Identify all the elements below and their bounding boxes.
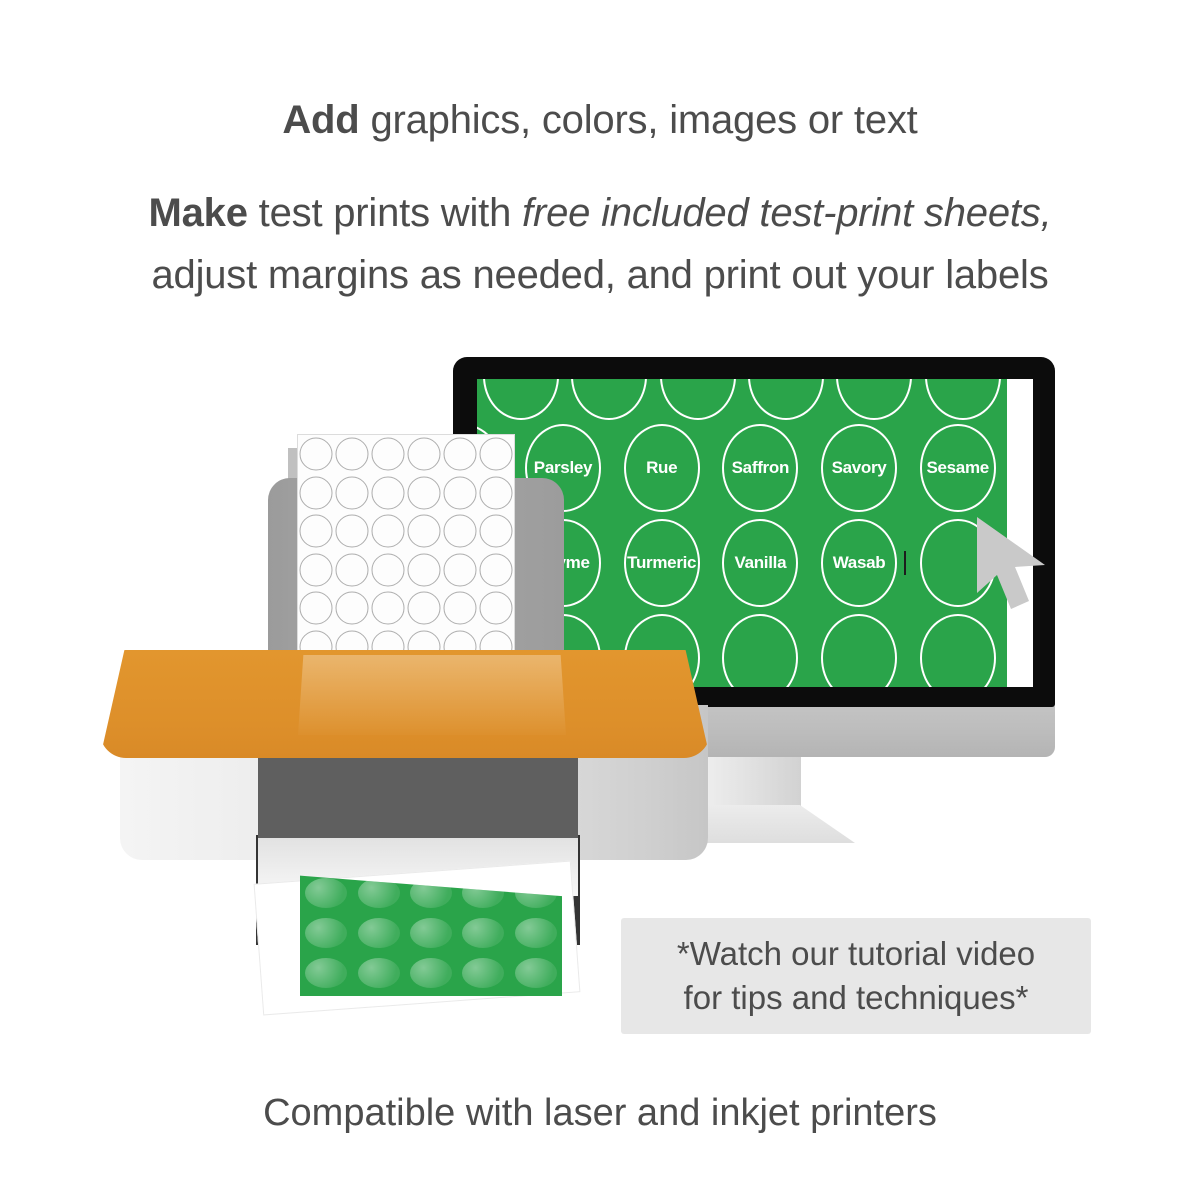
- label-cell[interactable]: Sesame: [908, 421, 1007, 515]
- blank-label-slot: [442, 551, 478, 590]
- headline-add-rest: graphics, colors, images or text: [360, 98, 918, 142]
- label-row: Parsley Rue Saffron Savory: [477, 421, 1007, 515]
- label-text: Vanilla: [711, 553, 810, 573]
- blank-label-slot: [370, 589, 406, 628]
- blank-label-circle: [444, 592, 477, 625]
- callout-line-2: for tips and techniques*: [677, 976, 1035, 1020]
- blank-label-circle: [336, 515, 369, 548]
- label-oval: [483, 379, 559, 420]
- printed-label-slot: [352, 912, 404, 954]
- blank-label-slot: [370, 551, 406, 590]
- blank-label-slot: [478, 474, 514, 513]
- tutorial-video-callout-text: *Watch our tutorial video for tips and t…: [677, 932, 1035, 1020]
- label-text: Turmeric: [612, 553, 711, 573]
- blank-label-slot: [442, 474, 478, 513]
- blank-label-slot: [478, 589, 514, 628]
- blank-label-circle: [336, 592, 369, 625]
- printer-lid-highlight: [298, 655, 566, 735]
- printed-label-oval: [358, 958, 400, 988]
- headline-make-mid: test prints with: [248, 191, 522, 235]
- blank-sheet-row: [298, 551, 514, 590]
- blank-label-slot: [298, 435, 334, 474]
- label-cell[interactable]: [565, 379, 653, 423]
- printed-row: [300, 952, 562, 994]
- label-row: agon Thyme Turmeric Vanilla: [477, 516, 1007, 610]
- blank-label-circle: [444, 476, 477, 509]
- blank-label-slot: [442, 589, 478, 628]
- blank-label-circle: [480, 515, 513, 548]
- blank-label-circle: [300, 476, 333, 509]
- blank-label-circle: [372, 476, 405, 509]
- blank-label-circle: [372, 438, 405, 471]
- blank-label-slot: [478, 551, 514, 590]
- printed-label-oval: [410, 918, 452, 948]
- blank-label-slot: [406, 435, 442, 474]
- printed-label-oval: [305, 958, 347, 988]
- blank-label-slot: [478, 435, 514, 474]
- blank-label-circle: [480, 553, 513, 586]
- label-text: Savory: [810, 458, 909, 478]
- printed-label-oval: [462, 918, 504, 948]
- label-cell[interactable]: Turmeric: [612, 516, 711, 610]
- label-text: Thyme: [514, 553, 613, 573]
- blank-label-circle: [408, 515, 441, 548]
- blank-label-slot: [442, 435, 478, 474]
- label-cell[interactable]: [742, 379, 830, 423]
- blank-label-circle: [408, 592, 441, 625]
- blank-label-circle: [480, 592, 513, 625]
- blank-label-circle: [336, 476, 369, 509]
- printed-label-slot: [510, 952, 562, 994]
- label-text: Parsley: [514, 458, 613, 478]
- blank-label-slot: [298, 512, 334, 551]
- label-cell[interactable]: Parsley: [514, 421, 613, 515]
- blank-label-circle: [372, 553, 405, 586]
- blank-sheet-row: [298, 435, 514, 474]
- blank-label-slot: [406, 512, 442, 551]
- blank-sheet-row: [298, 589, 514, 628]
- blank-sheet-row: [298, 512, 514, 551]
- label-cell[interactable]: Savory: [810, 421, 909, 515]
- printed-label-slot: [457, 952, 509, 994]
- headline-add-bold: Add: [282, 98, 359, 142]
- label-cell[interactable]: [477, 379, 565, 423]
- blank-label-slot: [406, 589, 442, 628]
- label-design-canvas[interactable]: Parsley Rue Saffron Savory: [477, 379, 1007, 687]
- printed-row: [300, 912, 562, 954]
- blank-label-slot: [298, 589, 334, 628]
- blank-label-slot: [442, 512, 478, 551]
- blank-label-slot: [370, 474, 406, 513]
- label-cell[interactable]: Vanilla: [711, 516, 810, 610]
- footer-caption: Compatible with laser and inkjet printer…: [0, 1092, 1200, 1135]
- blank-label-slot: [298, 551, 334, 590]
- blank-label-circle: [372, 515, 405, 548]
- headline-make-italic: free included test-print sheets,: [522, 191, 1051, 235]
- printed-label-oval: [515, 958, 557, 988]
- printed-label-slot: [405, 952, 457, 994]
- blank-label-sheet: [297, 434, 515, 678]
- blank-label-circle: [372, 592, 405, 625]
- label-cell[interactable]: [830, 379, 918, 423]
- blank-label-slot: [334, 474, 370, 513]
- blank-label-circle: [480, 438, 513, 471]
- label-oval: [660, 379, 736, 420]
- blank-label-circle: [300, 438, 333, 471]
- text-cursor-caret: [904, 551, 906, 575]
- blank-sheet-row: [298, 474, 514, 513]
- blank-label-circle: [408, 438, 441, 471]
- label-oval: [821, 614, 897, 687]
- label-cell[interactable]: [711, 611, 810, 687]
- blank-label-circle: [300, 515, 333, 548]
- headline-make-line2: adjust margins as needed, and print out …: [60, 244, 1140, 306]
- label-cell[interactable]: [919, 379, 1007, 423]
- label-cell[interactable]: [654, 379, 742, 423]
- printed-label-slot: [300, 952, 352, 994]
- blank-label-circle: [300, 553, 333, 586]
- blank-label-circle: [444, 515, 477, 548]
- label-text: Saffron: [711, 458, 810, 478]
- label-cell[interactable]: Rue: [612, 421, 711, 515]
- label-cell[interactable]: Thyme: [514, 516, 613, 610]
- headline-add: Add graphics, colors, images or text: [0, 94, 1200, 146]
- tutorial-video-callout[interactable]: *Watch our tutorial video for tips and t…: [621, 918, 1091, 1034]
- blank-label-slot: [298, 474, 334, 513]
- label-cell[interactable]: Saffron: [711, 421, 810, 515]
- blank-label-slot: [370, 435, 406, 474]
- blank-label-circle: [444, 438, 477, 471]
- mouse-pointer-icon[interactable]: [975, 513, 1059, 617]
- printed-label-oval: [462, 958, 504, 988]
- blank-label-circle: [408, 553, 441, 586]
- blank-label-circle: [300, 592, 333, 625]
- callout-line-1: *Watch our tutorial video: [677, 932, 1035, 976]
- label-text: Sesame: [908, 458, 1007, 478]
- label-cell[interactable]: [810, 611, 909, 687]
- blank-label-circle: [336, 553, 369, 586]
- printed-label-slot: [457, 912, 509, 954]
- label-oval: [748, 379, 824, 420]
- label-oval: [722, 614, 798, 687]
- monitor-screen[interactable]: Parsley Rue Saffron Savory: [477, 379, 1033, 687]
- printed-label-slot: [300, 912, 352, 954]
- blank-label-slot: [406, 551, 442, 590]
- blank-label-slot: [478, 512, 514, 551]
- label-oval: [836, 379, 912, 420]
- blank-label-slot: [334, 589, 370, 628]
- blank-label-slot: [406, 474, 442, 513]
- blank-label-circle: [408, 476, 441, 509]
- printed-label-slot: [405, 912, 457, 954]
- infographic-canvas: Add graphics, colors, images or text Mak…: [0, 0, 1200, 1200]
- printed-label-oval: [358, 918, 400, 948]
- label-oval: [571, 379, 647, 420]
- blank-label-slot: [370, 512, 406, 551]
- label-text-editing: Wasab: [810, 553, 909, 573]
- printed-label-slot: [352, 952, 404, 994]
- printed-label-oval: [305, 878, 347, 908]
- blank-label-circle: [336, 438, 369, 471]
- label-text: Rue: [612, 458, 711, 478]
- label-cell[interactable]: [908, 611, 1007, 687]
- blank-label-slot: [334, 435, 370, 474]
- printed-label-slot: [510, 912, 562, 954]
- printed-label-oval: [515, 918, 557, 948]
- blank-label-slot: [334, 512, 370, 551]
- blank-label-slot: [334, 551, 370, 590]
- label-cell-active[interactable]: Wasab: [810, 516, 909, 610]
- label-oval: [920, 614, 996, 687]
- label-oval: [925, 379, 1001, 420]
- headline-make-bold: Make: [149, 191, 248, 235]
- blank-label-circle: [444, 553, 477, 586]
- blank-label-circle: [480, 476, 513, 509]
- printed-label-oval: [305, 918, 347, 948]
- headline-make-line1: Make test prints with free included test…: [60, 182, 1140, 244]
- label-row: [477, 379, 1007, 423]
- headline-make: Make test prints with free included test…: [0, 182, 1200, 306]
- printed-label-oval: [410, 958, 452, 988]
